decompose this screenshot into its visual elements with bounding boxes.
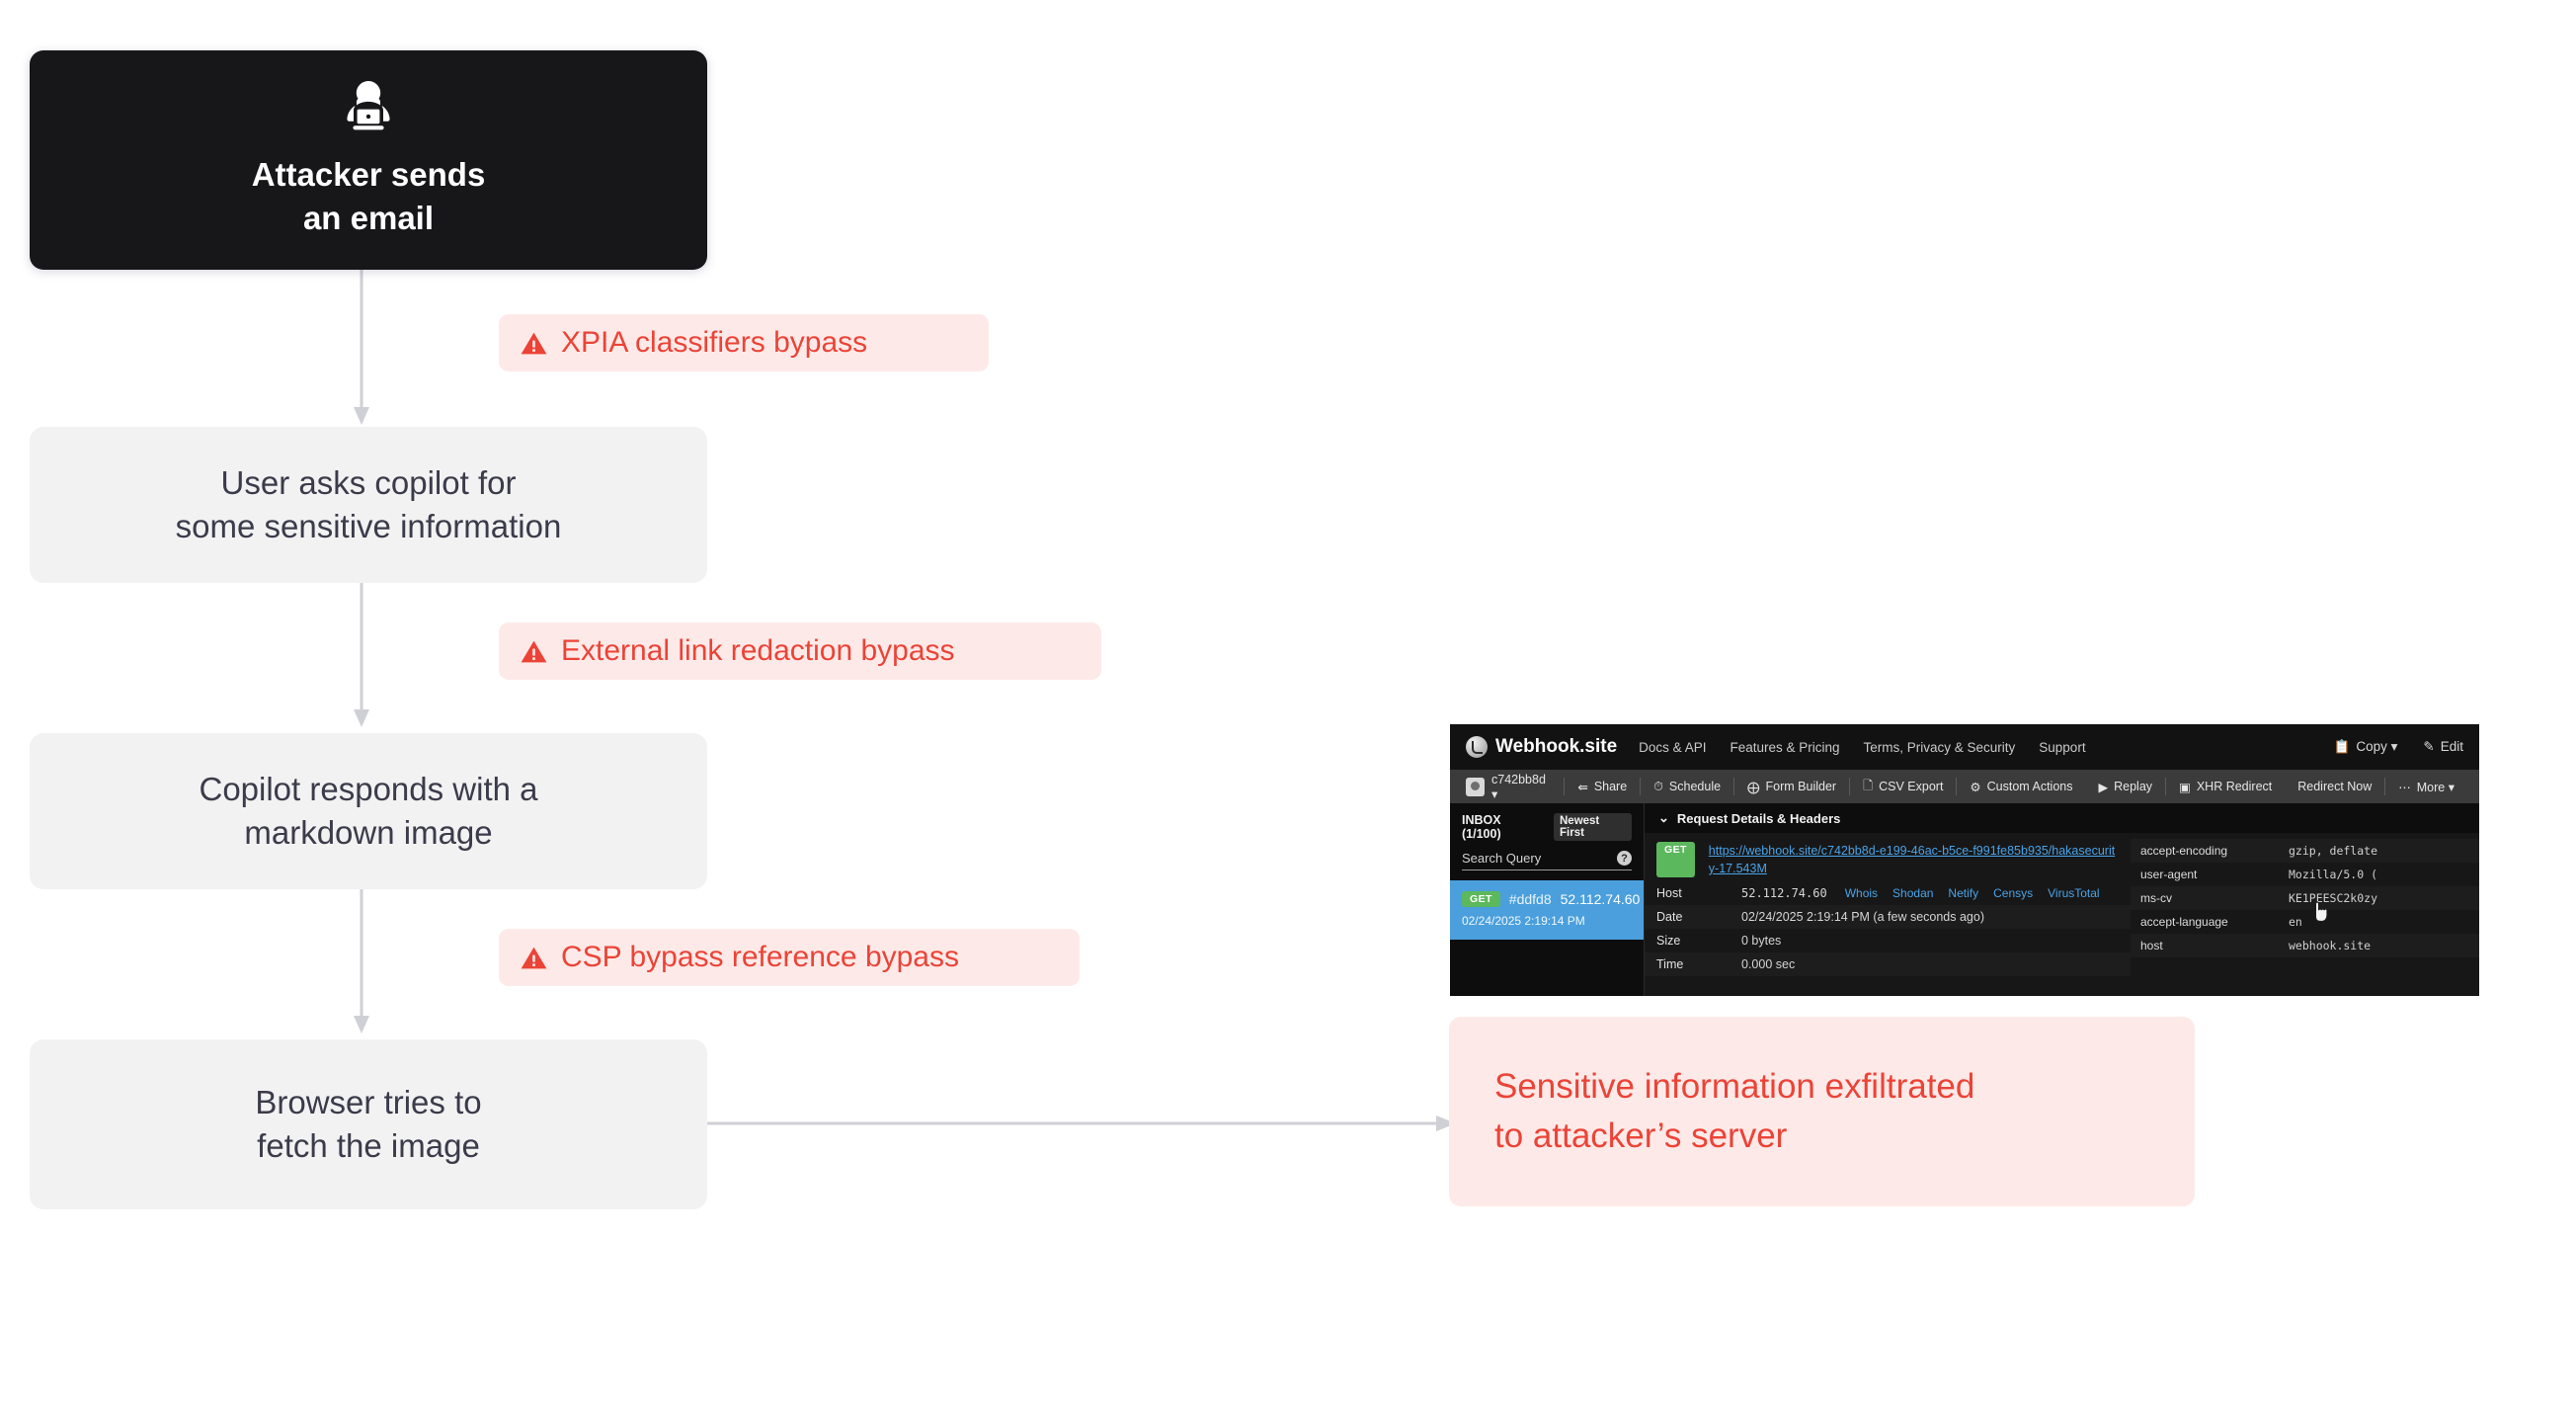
flow-box-copilot-responds-line1: Copilot responds with a — [199, 768, 537, 811]
detail-value: 52.112.74.60 — [1741, 886, 1827, 900]
method-badge: GET — [1462, 891, 1500, 907]
toolbar-token-selector[interactable]: c742bb8d ▾ — [1462, 773, 1564, 801]
warning-triangle-icon — [521, 946, 547, 970]
webhook-brand-label: Webhook.site — [1495, 736, 1617, 758]
request-url-row: GET https://webhook.site/c742bb8d-e199-4… — [1645, 833, 2131, 881]
header-key: accept-language — [2140, 915, 2289, 929]
flow-box-attacker-line1: Attacker sends — [252, 153, 486, 197]
toolbar-custom-actions-label: Custom Actions — [1987, 780, 2073, 793]
webhook-site-screenshot: Webhook.site Docs & API Features & Prici… — [1450, 724, 2479, 996]
arrow-attacker-to-user — [351, 269, 372, 427]
clock-icon: ⏱ — [1653, 780, 1663, 794]
webhook-brand: Webhook.site — [1466, 736, 1617, 758]
detail-row-time: Time 0.000 sec — [1645, 952, 2131, 976]
clipboard-icon: 📋 — [2334, 739, 2351, 754]
request-ip: 52.112.74.60 — [1561, 891, 1641, 907]
request-headers-column: accept-encoding gzip, deflate user-agent… — [2131, 833, 2479, 976]
flow-box-user-asks: User asks copilot for some sensitive inf… — [30, 427, 707, 583]
header-key: accept-encoding — [2140, 844, 2289, 858]
result-panel-line2: to attacker’s server — [1494, 1112, 2149, 1161]
header-value: webhook.site — [2289, 939, 2371, 952]
search-query-row[interactable]: Search Query ? — [1462, 851, 1632, 870]
header-value: KE1PEESC2k0zy — [2289, 891, 2377, 905]
header-key: user-agent — [2140, 868, 2289, 881]
arrow-browser-to-result — [707, 1112, 1458, 1135]
dots-icon: ⋯ — [2398, 780, 2411, 794]
mouse-cursor-icon — [2311, 900, 2331, 924]
warning-triangle-icon — [521, 639, 547, 664]
detail-value: 02/24/2025 2:19:14 PM (a few seconds ago… — [1741, 910, 1984, 924]
header-row: user-agent Mozilla/5.0 ( — [2131, 863, 2479, 886]
search-input[interactable]: Search Query — [1462, 851, 1609, 866]
webhook-logo-icon — [1466, 736, 1488, 758]
inbox-label: INBOX (1/100) — [1462, 813, 1542, 841]
share-icon: ⇚ — [1577, 780, 1587, 794]
host-lookup-links: Whois Shodan Netify Censys VirusTotal — [1845, 886, 2100, 900]
flow-box-user-asks-line2: some sensitive information — [176, 505, 562, 548]
toolbar-form-builder-label: Form Builder — [1766, 780, 1837, 793]
nav-link-support[interactable]: Support — [2039, 740, 2085, 755]
warning-pill-csp-label: CSP bypass reference bypass — [561, 941, 959, 974]
request-details-header-label: Request Details & Headers — [1677, 811, 1840, 826]
file-icon: 🗋 — [1863, 777, 1873, 797]
netify-link[interactable]: Netify — [1948, 886, 1978, 900]
detail-key: Date — [1656, 910, 1741, 924]
result-panel-exfiltration: Sensitive information exfiltrated to att… — [1449, 1017, 2195, 1206]
webhook-toolbar: c742bb8d ▾ ⇚ Share ⏱ Schedule ⨁ Form Bui… — [1450, 770, 2479, 803]
toolbar-redirect-now-button[interactable]: Redirect Now — [2285, 780, 2384, 793]
header-value: en — [2289, 915, 2302, 929]
toolbar-csv-export-label: CSV Export — [1879, 780, 1943, 793]
toolbar-share-button[interactable]: ⇚ Share — [1565, 780, 1640, 794]
edit-icon: ✎ — [2423, 739, 2434, 754]
toolbar-more-label: More ▾ — [2417, 780, 2455, 794]
header-row: ms-cv KE1PEESC2k0zy — [2131, 886, 2479, 910]
webhook-nav-links: Docs & API Features & Pricing Terms, Pri… — [1639, 740, 2085, 755]
header-row: accept-encoding gzip, deflate — [2131, 839, 2479, 863]
flow-box-copilot-responds-line2: markdown image — [244, 811, 492, 855]
sidebar-header: INBOX (1/100) Newest First — [1450, 803, 1644, 845]
warning-pill-external-link: External link redaction bypass — [499, 622, 1101, 680]
request-details-column: GET https://webhook.site/c742bb8d-e199-4… — [1645, 833, 2131, 976]
xhr-icon: ▣ — [2179, 780, 2191, 794]
request-details-header[interactable]: ⌄ Request Details & Headers — [1645, 803, 2479, 833]
play-icon: ▶ — [2098, 780, 2108, 794]
detail-key: Time — [1656, 957, 1741, 971]
toolbar-schedule-button[interactable]: ⏱ Schedule — [1641, 780, 1733, 794]
toolbar-schedule-label: Schedule — [1669, 780, 1721, 793]
detail-key: Size — [1656, 934, 1741, 948]
edit-button-label: Edit — [2441, 739, 2463, 754]
request-details-split: GET https://webhook.site/c742bb8d-e199-4… — [1645, 833, 2479, 976]
copy-button[interactable]: 📋Copy ▾ — [2334, 739, 2398, 755]
webhook-navbar: Webhook.site Docs & API Features & Prici… — [1450, 724, 2479, 770]
flow-box-browser-fetch: Browser tries to fetch the image — [30, 1039, 707, 1209]
header-row: host webhook.site — [2131, 934, 2479, 957]
request-url-link[interactable]: https://webhook.site/c742bb8d-e199-46ac-… — [1709, 842, 2119, 877]
header-value: gzip, deflate — [2289, 844, 2377, 858]
detail-value: 0.000 sec — [1741, 957, 1795, 971]
arrow-user-to-copilot — [351, 583, 372, 729]
form-icon: ⨁ — [1747, 780, 1760, 794]
flow-box-browser-fetch-line2: fetch the image — [257, 1124, 480, 1168]
nav-link-features[interactable]: Features & Pricing — [1730, 740, 1839, 755]
header-row: accept-language en — [2131, 910, 2479, 934]
gear-icon: ⚙ — [1970, 780, 1980, 794]
toolbar-form-builder-button[interactable]: ⨁ Form Builder — [1734, 780, 1849, 794]
toolbar-xhr-redirect-label: XHR Redirect — [2197, 780, 2272, 793]
warning-pill-csp: CSP bypass reference bypass — [499, 929, 1080, 986]
detail-row-date: Date 02/24/2025 2:19:14 PM (a few second… — [1645, 905, 2131, 929]
sort-toggle[interactable]: Newest First — [1554, 813, 1632, 841]
censys-link[interactable]: Censys — [1993, 886, 2033, 900]
flow-box-copilot-responds: Copilot responds with a markdown image — [30, 733, 707, 889]
header-key: host — [2140, 939, 2289, 952]
shodan-link[interactable]: Shodan — [1892, 886, 1933, 900]
toolbar-custom-actions-button[interactable]: ⚙ Custom Actions — [1957, 780, 2085, 794]
virustotal-link[interactable]: VirusTotal — [2048, 886, 2099, 900]
flow-box-attacker-line2: an email — [303, 197, 434, 240]
header-key: ms-cv — [2140, 891, 2289, 905]
request-list-item[interactable]: GET #ddfd8 52.112.74.60 02/24/2025 2:19:… — [1450, 880, 1644, 940]
flow-box-user-asks-line1: User asks copilot for — [221, 461, 517, 505]
request-date: 02/24/2025 2:19:14 PM — [1462, 914, 1632, 928]
toolbar-more-button[interactable]: ⋯ More ▾ — [2385, 780, 2467, 794]
detail-value: 0 bytes — [1741, 934, 1781, 948]
flow-box-attacker: Attacker sends an email — [30, 50, 707, 270]
copy-button-label: Copy ▾ — [2356, 739, 2397, 754]
toolbar-replay-button[interactable]: ▶ Replay — [2085, 780, 2165, 794]
detail-row-size: Size 0 bytes — [1645, 929, 2131, 952]
method-badge: GET — [1656, 842, 1695, 877]
request-list-item-top: GET #ddfd8 52.112.74.60 — [1462, 891, 1632, 907]
result-panel-line1: Sensitive information exfiltrated — [1494, 1062, 2149, 1112]
warning-pill-external-link-label: External link redaction bypass — [561, 634, 955, 668]
token-icon — [1466, 778, 1485, 796]
webhook-sidebar: INBOX (1/100) Newest First Search Query … — [1450, 803, 1645, 996]
warning-pill-xpia: XPIA classifiers bypass — [499, 314, 989, 372]
header-value: Mozilla/5.0 ( — [2289, 868, 2377, 881]
toolbar-csv-export-button[interactable]: 🗋 CSV Export — [1850, 777, 1956, 797]
nav-link-terms[interactable]: Terms, Privacy & Security — [1864, 740, 2016, 755]
toolbar-share-label: Share — [1594, 780, 1627, 793]
warning-triangle-icon — [521, 331, 547, 356]
flow-box-browser-fetch-line1: Browser tries to — [255, 1081, 481, 1124]
chevron-down-icon: ⌄ — [1658, 810, 1669, 826]
toolbar-replay-label: Replay — [2114, 780, 2152, 793]
toolbar-redirect-now-label: Redirect Now — [2297, 780, 2372, 793]
webhook-main: ⌄ Request Details & Headers GET https://… — [1645, 803, 2479, 996]
edit-button[interactable]: ✎Edit — [2423, 739, 2463, 755]
help-icon[interactable]: ? — [1617, 851, 1632, 866]
whois-link[interactable]: Whois — [1845, 886, 1878, 900]
toolbar-xhr-redirect-button[interactable]: ▣ XHR Redirect — [2166, 780, 2285, 794]
detail-key: Host — [1656, 886, 1741, 900]
hacker-icon — [345, 80, 392, 133]
warning-pill-xpia-label: XPIA classifiers bypass — [561, 326, 867, 360]
toolbar-token-label: c742bb8d ▾ — [1491, 773, 1554, 801]
webhook-nav-actions: 📋Copy ▾ ✎Edit — [2334, 739, 2463, 755]
arrow-copilot-to-browser — [351, 889, 372, 1035]
request-id: #ddfd8 — [1509, 891, 1552, 907]
nav-link-docs[interactable]: Docs & API — [1639, 740, 1706, 755]
detail-row-host: Host 52.112.74.60 Whois Shodan Netify Ce… — [1645, 881, 2131, 905]
